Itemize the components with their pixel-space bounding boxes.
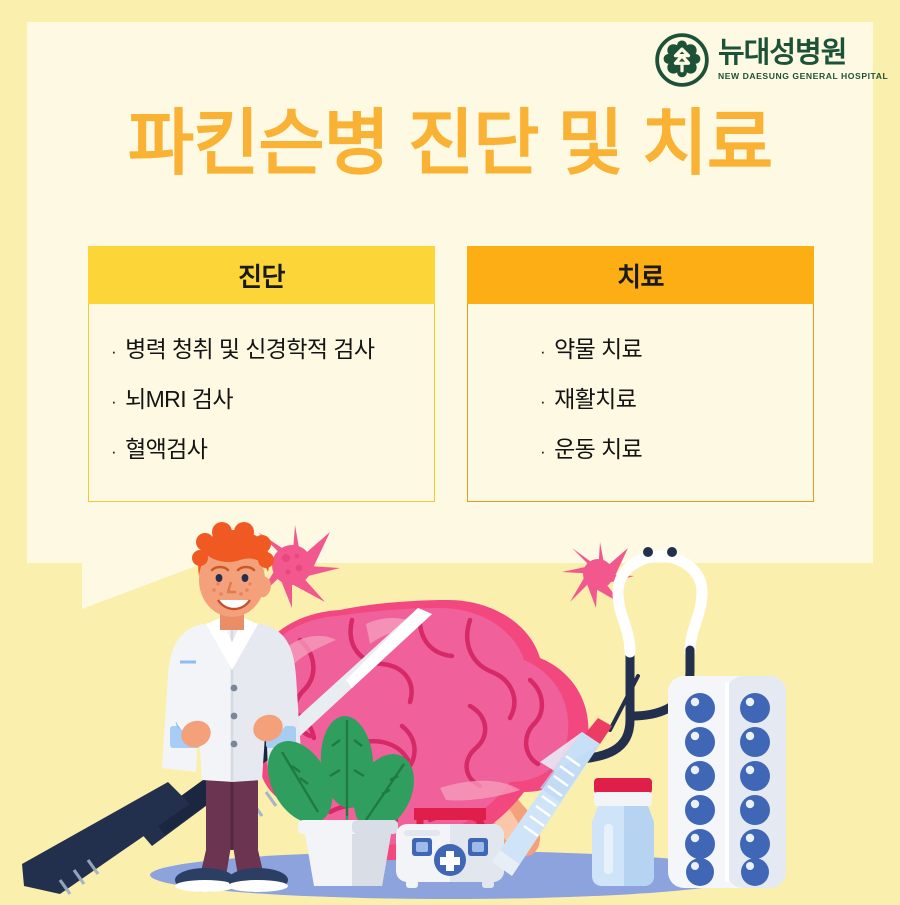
list-item: · 병력 청취 및 신경학적 검사 — [111, 330, 434, 364]
hospital-emblem-icon — [655, 33, 709, 87]
comparison-tables: 진단 · 병력 청취 및 신경학적 검사 · 뇌MRI 검사 · 혈액검사 치료 — [88, 246, 814, 502]
bullet-icon: · — [111, 443, 116, 460]
bullet-icon: · — [540, 343, 545, 360]
list-item: · 운동 치료 — [540, 430, 813, 464]
bullet-icon: · — [540, 443, 545, 460]
list-item-label: 재활치료 — [554, 380, 636, 414]
table-diagnosis: 진단 · 병력 청취 및 신경학적 검사 · 뇌MRI 검사 · 혈액검사 — [88, 246, 435, 502]
pill-blister-pack — [668, 676, 786, 888]
list-item: · 재활치료 — [540, 380, 813, 414]
hospital-name-en: NEW DAESUNG GENERAL HOSPITAL — [718, 72, 888, 81]
list-item-label: 뇌MRI 검사 — [125, 380, 233, 414]
list-item-label: 병력 청취 및 신경학적 검사 — [125, 330, 374, 364]
table-header-diagnosis: 진단 — [88, 246, 435, 304]
table-treatment: 치료 · 약물 치료 · 재활치료 · 운동 치료 — [467, 246, 814, 502]
list-item: · 혈액검사 — [111, 430, 434, 464]
hospital-name-ko: 뉴대성병원 — [718, 39, 888, 68]
table-body-treatment: · 약물 치료 · 재활치료 · 운동 치료 — [467, 304, 814, 502]
list-item: · 뇌MRI 검사 — [111, 380, 434, 414]
hospital-logo: 뉴대성병원 NEW DAESUNG GENERAL HOSPITAL — [655, 33, 888, 87]
list-item-label: 혈액검사 — [125, 430, 207, 464]
table-header-treatment: 치료 — [467, 246, 814, 304]
list-item-label: 운동 치료 — [554, 430, 642, 464]
vial — [592, 778, 654, 886]
bullet-icon: · — [111, 393, 116, 410]
page-title: 파킨슨병 진단 및 치료 — [0, 84, 900, 189]
bullet-icon: · — [540, 393, 545, 410]
bullet-icon: · — [111, 343, 116, 360]
medical-illustration — [0, 520, 900, 900]
list-item-label: 약물 치료 — [554, 330, 642, 364]
list-item: · 약물 치료 — [540, 330, 813, 364]
infographic-canvas: 뉴대성병원 NEW DAESUNG GENERAL HOSPITAL 파킨슨병 … — [0, 0, 900, 900]
table-body-diagnosis: · 병력 청취 및 신경학적 검사 · 뇌MRI 검사 · 혈액검사 — [88, 304, 435, 502]
